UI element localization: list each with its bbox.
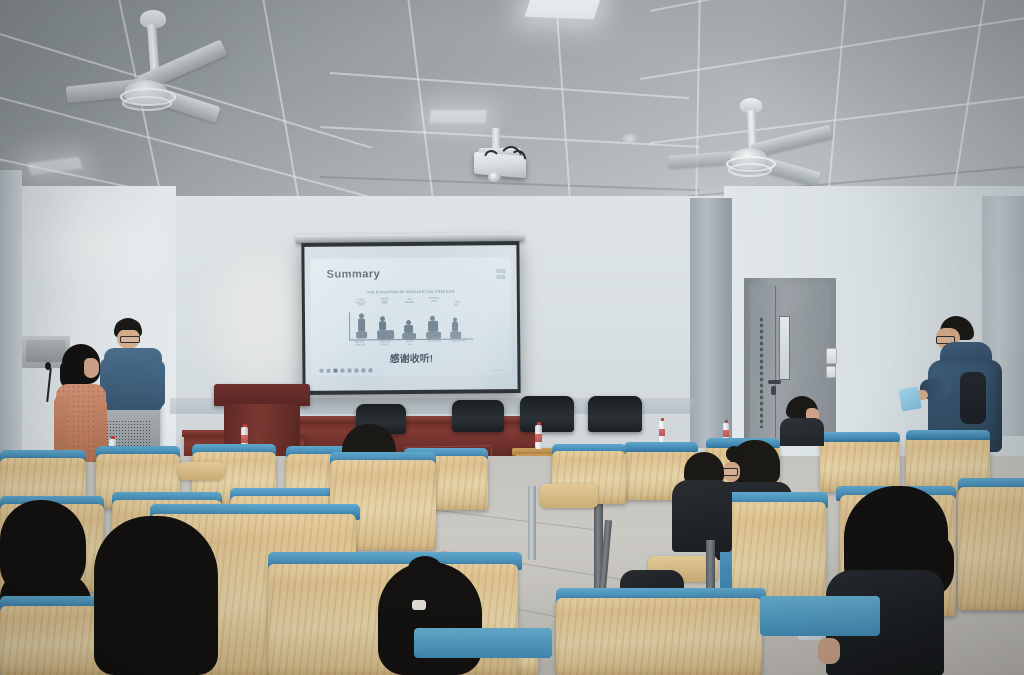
cartoon-caption: THENET [447, 302, 467, 308]
fan-hub-ring [728, 163, 772, 177]
seat-frame-right [588, 500, 618, 590]
arm [150, 360, 165, 408]
microphone-head [45, 362, 51, 370]
hand [818, 638, 840, 664]
seat-cushion-visible [414, 628, 552, 658]
cartoon-figure [402, 320, 418, 339]
projection-screen: Summary ▨▨▨▨ THE EVOLUTION OF INTELLECTU… [304, 245, 517, 391]
shape-icon[interactable] [354, 368, 358, 372]
cartoon-caption: MASSPRINTAGE [374, 298, 396, 306]
wall-light-switch[interactable] [826, 348, 837, 364]
wall-light-reflection [212, 258, 302, 388]
exec-chair [452, 400, 504, 432]
cartoon-caption: AIRWAVES [399, 299, 420, 305]
presentation-slide: Summary ▨▨▨▨ THE EVOLUTION OF INTELLECTU… [310, 257, 511, 377]
hand-icon[interactable] [326, 369, 330, 373]
hair-fringe [115, 320, 141, 330]
hair-clip [412, 600, 426, 610]
seat-armrest-left [178, 462, 224, 480]
lecture-hall-photo: Summary ▨▨▨▨ THE EVOLUTION OF INTELLECTU… [0, 0, 1024, 675]
slide-thanks-text: 感谢收听! [311, 349, 511, 366]
door-hinge-strip [760, 318, 763, 428]
ceiling-fan-left [118, 4, 268, 124]
light-panel-top-center [525, 0, 602, 19]
smoke-detector [622, 134, 637, 143]
cartoon-footnote: TELEVISION [423, 341, 445, 344]
slide-cartoon: THE EVOLUTION OF INTELLECTUAL FREEDOM FR… [345, 289, 478, 348]
left-wall-corner [0, 170, 22, 470]
more-icon[interactable] [368, 368, 372, 372]
wall-light-reflection [38, 210, 158, 280]
student-center-bun [378, 562, 490, 675]
zoom-icon[interactable] [361, 368, 365, 372]
glasses [120, 336, 140, 343]
cartoon-footnote: ANCIENTORATOR [349, 341, 371, 346]
cartoon-title: THE EVOLUTION OF INTELLECTUAL FREEDOM [345, 289, 477, 294]
slide-title: Summary [327, 268, 381, 280]
seat-row2-right-edge [958, 478, 1024, 610]
cartoon-caption: SCREENTIME [423, 298, 445, 304]
projector-lens [488, 172, 501, 182]
seat-row1-right-wide [556, 588, 766, 675]
hair-bun [408, 556, 442, 582]
ceiling-fan-right [712, 94, 862, 194]
pointer-icon[interactable] [319, 369, 323, 373]
face [84, 358, 99, 378]
eraser-icon[interactable] [347, 369, 351, 373]
arm [54, 396, 67, 458]
water-bottle [534, 422, 543, 449]
wall-outlet[interactable] [826, 366, 836, 378]
bottle-label [535, 434, 542, 442]
seat-cushion-right [760, 596, 880, 636]
cartoon-footnote: PRINTINGPRESS [374, 341, 396, 346]
student-left-edge [94, 516, 224, 675]
cartoon-caption: FREESPEECHERA [351, 299, 371, 307]
lectern-top [214, 384, 310, 406]
door-seam [775, 286, 776, 444]
door-handle[interactable] [768, 380, 781, 384]
held-phone[interactable] [898, 386, 922, 411]
cartoon-footnote: RADIOSET [399, 341, 420, 346]
cartoon-figure [377, 316, 395, 339]
light-panel-far-left [429, 110, 486, 123]
cartoon-figure [354, 313, 370, 339]
seat-armrest-center [540, 484, 598, 508]
seat-row3-right-c [820, 430, 900, 492]
bottle-label [659, 429, 665, 436]
student-right-back [780, 396, 824, 444]
cartoon-figure [449, 318, 463, 339]
student-center-aisle [672, 452, 736, 552]
jacket-dark-panel [960, 372, 986, 424]
fan-hub-ring [122, 96, 172, 111]
slide-logo: ▨▨▨▨ [496, 269, 506, 281]
student-bottom-right [822, 486, 962, 675]
cartoon-axis-y [349, 313, 350, 341]
door-lock[interactable] [771, 386, 776, 395]
highlight-icon[interactable] [340, 369, 344, 373]
cartoon-footnote: COMPUTER [447, 340, 469, 343]
bottle-label [241, 435, 248, 443]
door-window [779, 316, 790, 380]
pen-icon[interactable] [333, 369, 337, 373]
exec-chair [520, 396, 574, 432]
slide-footer-note: ▱▱▱▱ [491, 367, 503, 372]
slide-toolbar[interactable] [319, 368, 372, 372]
wall-pillar [690, 198, 732, 448]
cartoon-figure [425, 316, 443, 339]
exec-chair [588, 396, 642, 432]
hair [94, 516, 218, 675]
